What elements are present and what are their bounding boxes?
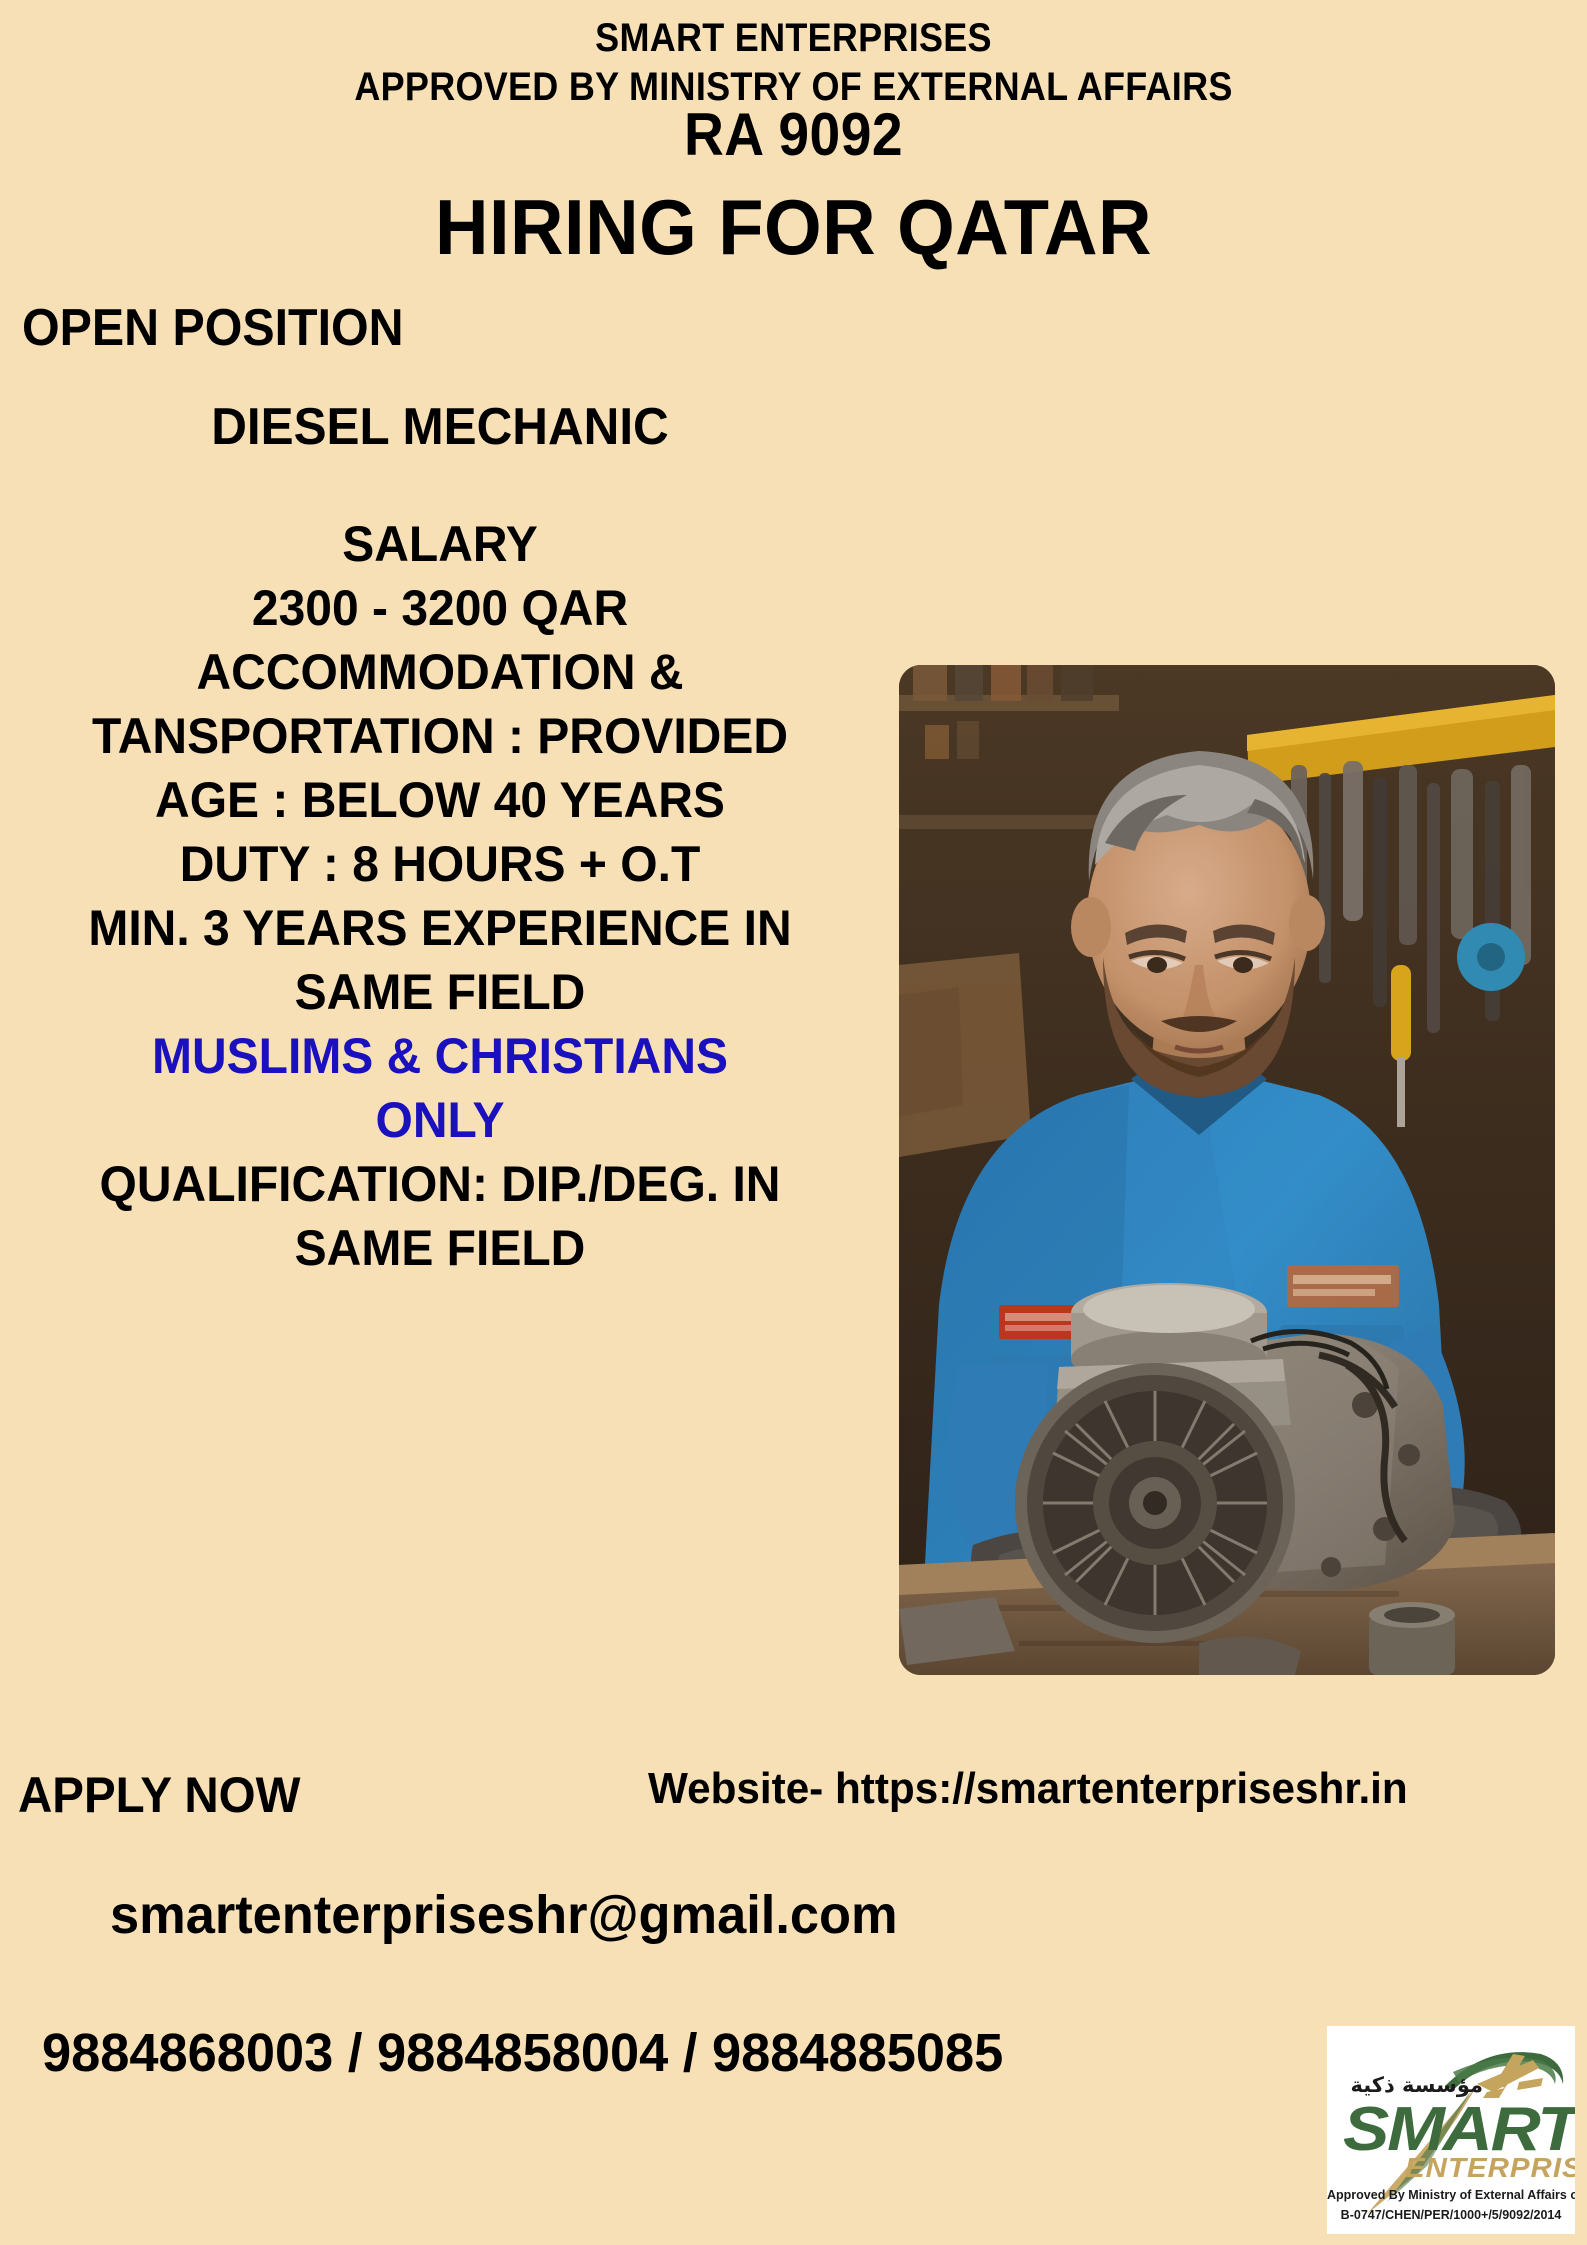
qualification-line-2: SAME FIELD — [18, 1216, 863, 1280]
mechanic-photo-illustration — [899, 665, 1555, 1675]
experience-requirement-line-1: MIN. 3 YEARS EXPERIENCE IN — [18, 896, 863, 960]
logo-registration-number: B-0747/CHEN/PER/1000+/5/9092/2014 — [1327, 2208, 1575, 2222]
age-requirement: AGE : BELOW 40 YEARS — [18, 768, 863, 832]
logo-enterprises-text: ENTERPRISES — [1405, 2152, 1575, 2184]
transportation-line: TANSPORTATION : PROVIDED — [18, 704, 863, 768]
email-link[interactable]: smartenterpriseshr@gmail.com — [110, 1884, 898, 1946]
job-title: DIESEL MECHANIC — [22, 397, 858, 457]
experience-requirement-line-2: SAME FIELD — [18, 960, 863, 1024]
company-logo: مؤسسة ذكية SMART ENTERPRISES Approved By… — [1327, 2026, 1575, 2234]
job-advertisement-poster: SMART ENTERPRISES APPROVED BY MINISTRY O… — [0, 0, 1587, 2245]
salary-value: 2300 - 3200 QAR — [18, 576, 863, 640]
salary-label: SALARY — [18, 512, 863, 576]
accommodation-line: ACCOMMODATION & — [18, 640, 863, 704]
mechanic-photo — [899, 665, 1555, 1675]
website-link[interactable]: Website- https://smartenterpriseshr.in — [648, 1764, 1408, 1814]
phone-numbers[interactable]: 9884868003 / 9884858004 / 9884885085 — [42, 2022, 1003, 2084]
company-name: SMART ENTERPRISES — [79, 14, 1507, 63]
apply-now-label: APPLY NOW — [18, 1766, 300, 1824]
qualification-line-1: QUALIFICATION: DIP./DEG. IN — [18, 1152, 863, 1216]
poster-header: SMART ENTERPRISES APPROVED BY MINISTRY O… — [0, 14, 1587, 112]
logo-approval-text: Approved By Ministry of External Affairs… — [1327, 2188, 1575, 2202]
open-position-label: OPEN POSITION — [22, 298, 404, 358]
job-details-block: SALARY 2300 - 3200 QAR ACCOMMODATION & T… — [0, 512, 880, 1280]
ra-code: RA 9092 — [63, 100, 1523, 169]
religion-requirement-line-1: MUSLIMS & CHRISTIANS — [18, 1024, 863, 1088]
religion-requirement-line-2: ONLY — [18, 1088, 863, 1152]
duty-hours: DUTY : 8 HOURS + O.T — [18, 832, 863, 896]
page-title: HIRING FOR QATAR — [40, 182, 1548, 273]
